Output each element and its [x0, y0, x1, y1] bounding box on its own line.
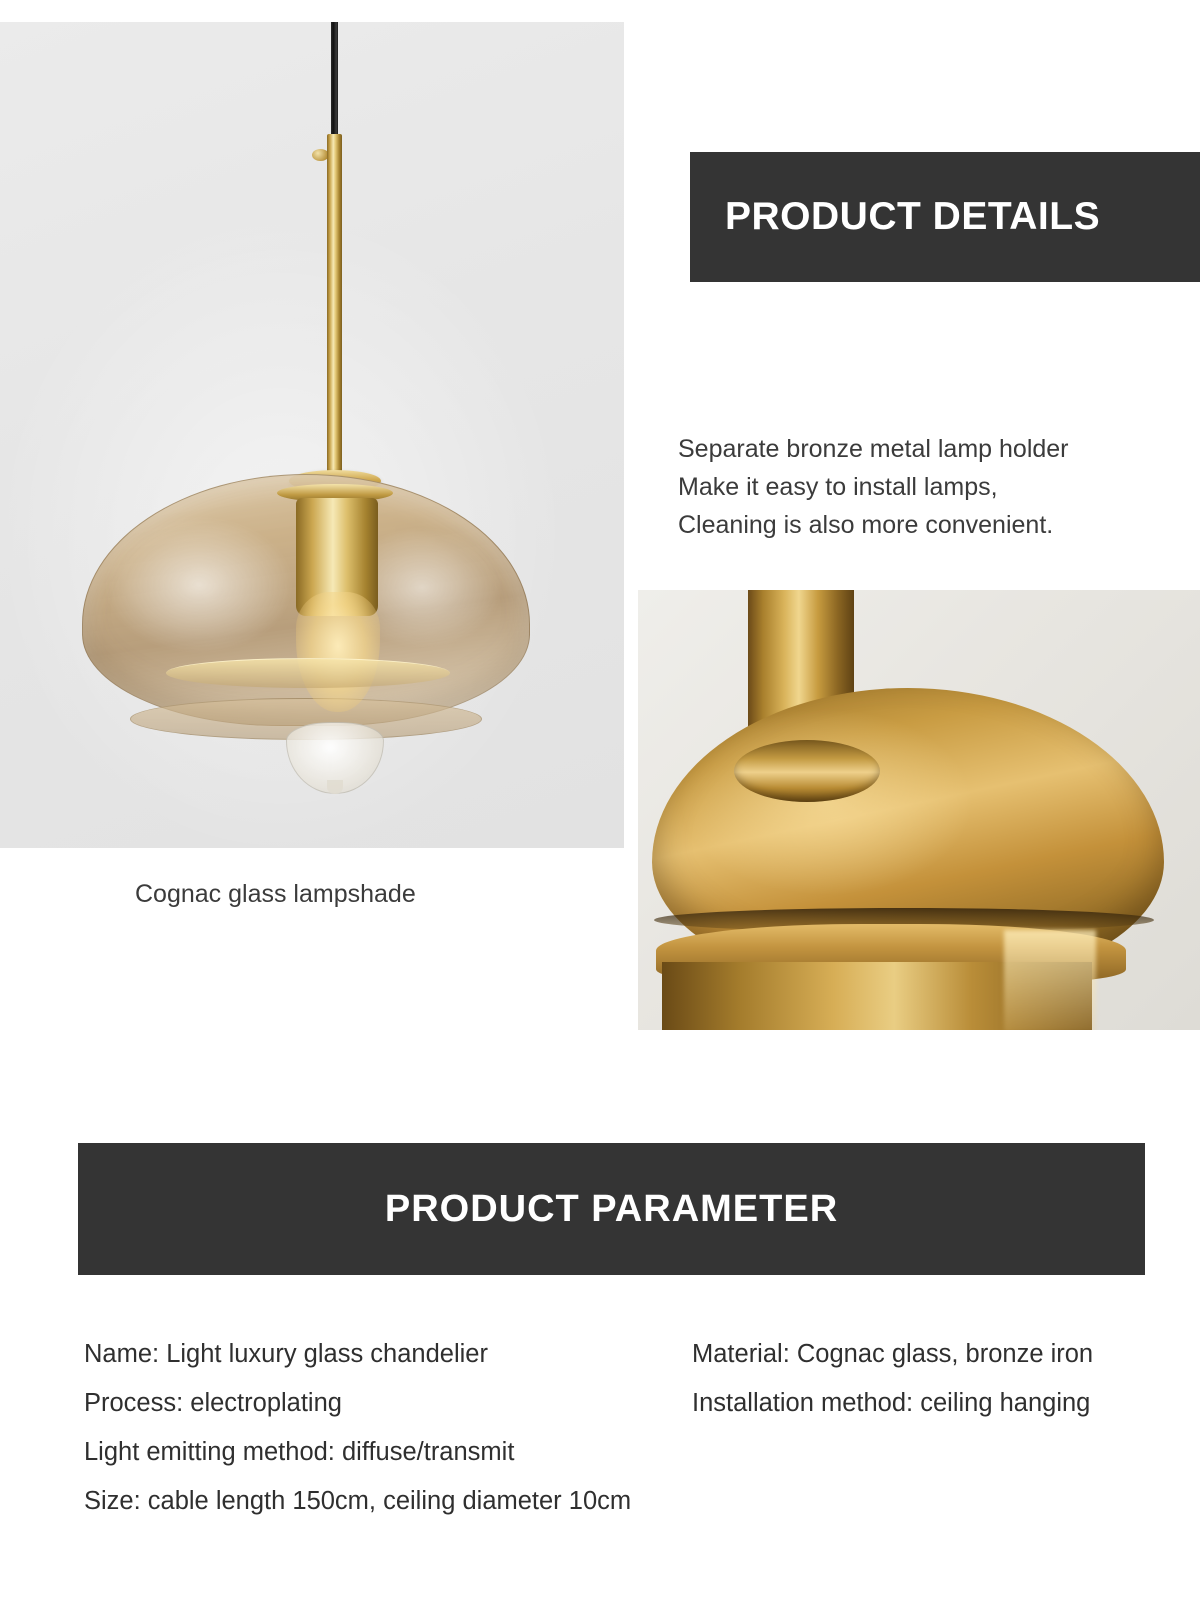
feature-line-3: Cleaning is also more convenient.: [678, 506, 1178, 544]
parameter-material: Material: Cognac glass, bronze iron: [692, 1330, 1172, 1379]
parameter-size: Size: cable length 150cm, ceiling diamet…: [84, 1477, 684, 1526]
feature-line-1: Separate bronze metal lamp holder: [678, 430, 1178, 468]
parameter-process: Process: electroplating: [84, 1379, 684, 1428]
parameter-list-left: Name: Light luxury glass chandelier Proc…: [84, 1330, 684, 1526]
product-details-banner: PRODUCT DETAILS: [690, 152, 1200, 282]
parameter-light-emitting-method: Light emitting method: diffuse/transmit: [84, 1428, 684, 1477]
bronze-highlight: [1004, 930, 1096, 1030]
filament-reflection-ring: [166, 658, 450, 688]
parameter-installation-method: Installation method: ceiling hanging: [692, 1379, 1172, 1428]
bronze-collar-ring: [734, 740, 880, 802]
product-parameter-banner: PRODUCT PARAMETER: [78, 1143, 1145, 1275]
product-details-title: PRODUCT DETAILS: [725, 195, 1100, 239]
parameter-name: Name: Light luxury glass chandelier: [84, 1330, 684, 1379]
lamp-hero-image: [0, 22, 624, 848]
product-parameter-title: PRODUCT PARAMETER: [385, 1188, 838, 1231]
bulb-tip: [327, 780, 343, 794]
brass-rod: [327, 134, 342, 479]
product-detail-page: Cognac glass lampshade PRODUCT DETAILS S…: [0, 0, 1200, 1600]
feature-line-2: Make it easy to install lamps,: [678, 468, 1178, 506]
feature-description: Separate bronze metal lamp holder Make i…: [678, 430, 1178, 544]
lamp-cord: [331, 22, 338, 137]
parameter-list-right: Material: Cognac glass, bronze iron Inst…: [692, 1330, 1172, 1428]
bronze-holder-image: [638, 590, 1200, 1030]
lamp-image-caption: Cognac glass lampshade: [135, 880, 416, 909]
